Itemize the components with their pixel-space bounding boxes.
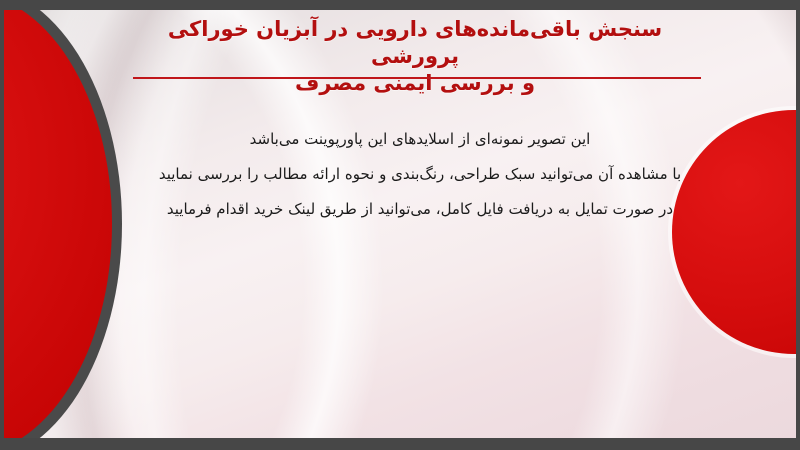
slide-body-line-3: در صورت تمایل به دریافت فایل کامل، می‌تو… [154,192,686,227]
slide-title: سنجش باقی‌مانده‌های دارویی در آبزیان خور… [130,16,700,97]
slide-title-line-2: و بررسی ایمنی مصرف [130,70,700,97]
slide-title-line-1: سنجش باقی‌مانده‌های دارویی در آبزیان خور… [130,16,700,70]
slide-body-line-1: این تصویر نمونه‌ای از اسلایدهای این پاور… [154,122,686,157]
title-divider-rule [133,77,701,79]
frame-top-bar [0,0,800,10]
slide-body: این تصویر نمونه‌ای از اسلایدهای این پاور… [154,122,686,227]
presentation-slide: سنجش باقی‌مانده‌های دارویی در آبزیان خور… [0,0,800,450]
frame-right-bar [796,0,800,450]
slide-content: سنجش باقی‌مانده‌های دارویی در آبزیان خور… [4,10,796,438]
frame-bottom-bar [0,438,800,450]
slide-body-line-2: با مشاهده آن می‌توانید سبک طراحی، رنگ‌بن… [154,157,686,192]
